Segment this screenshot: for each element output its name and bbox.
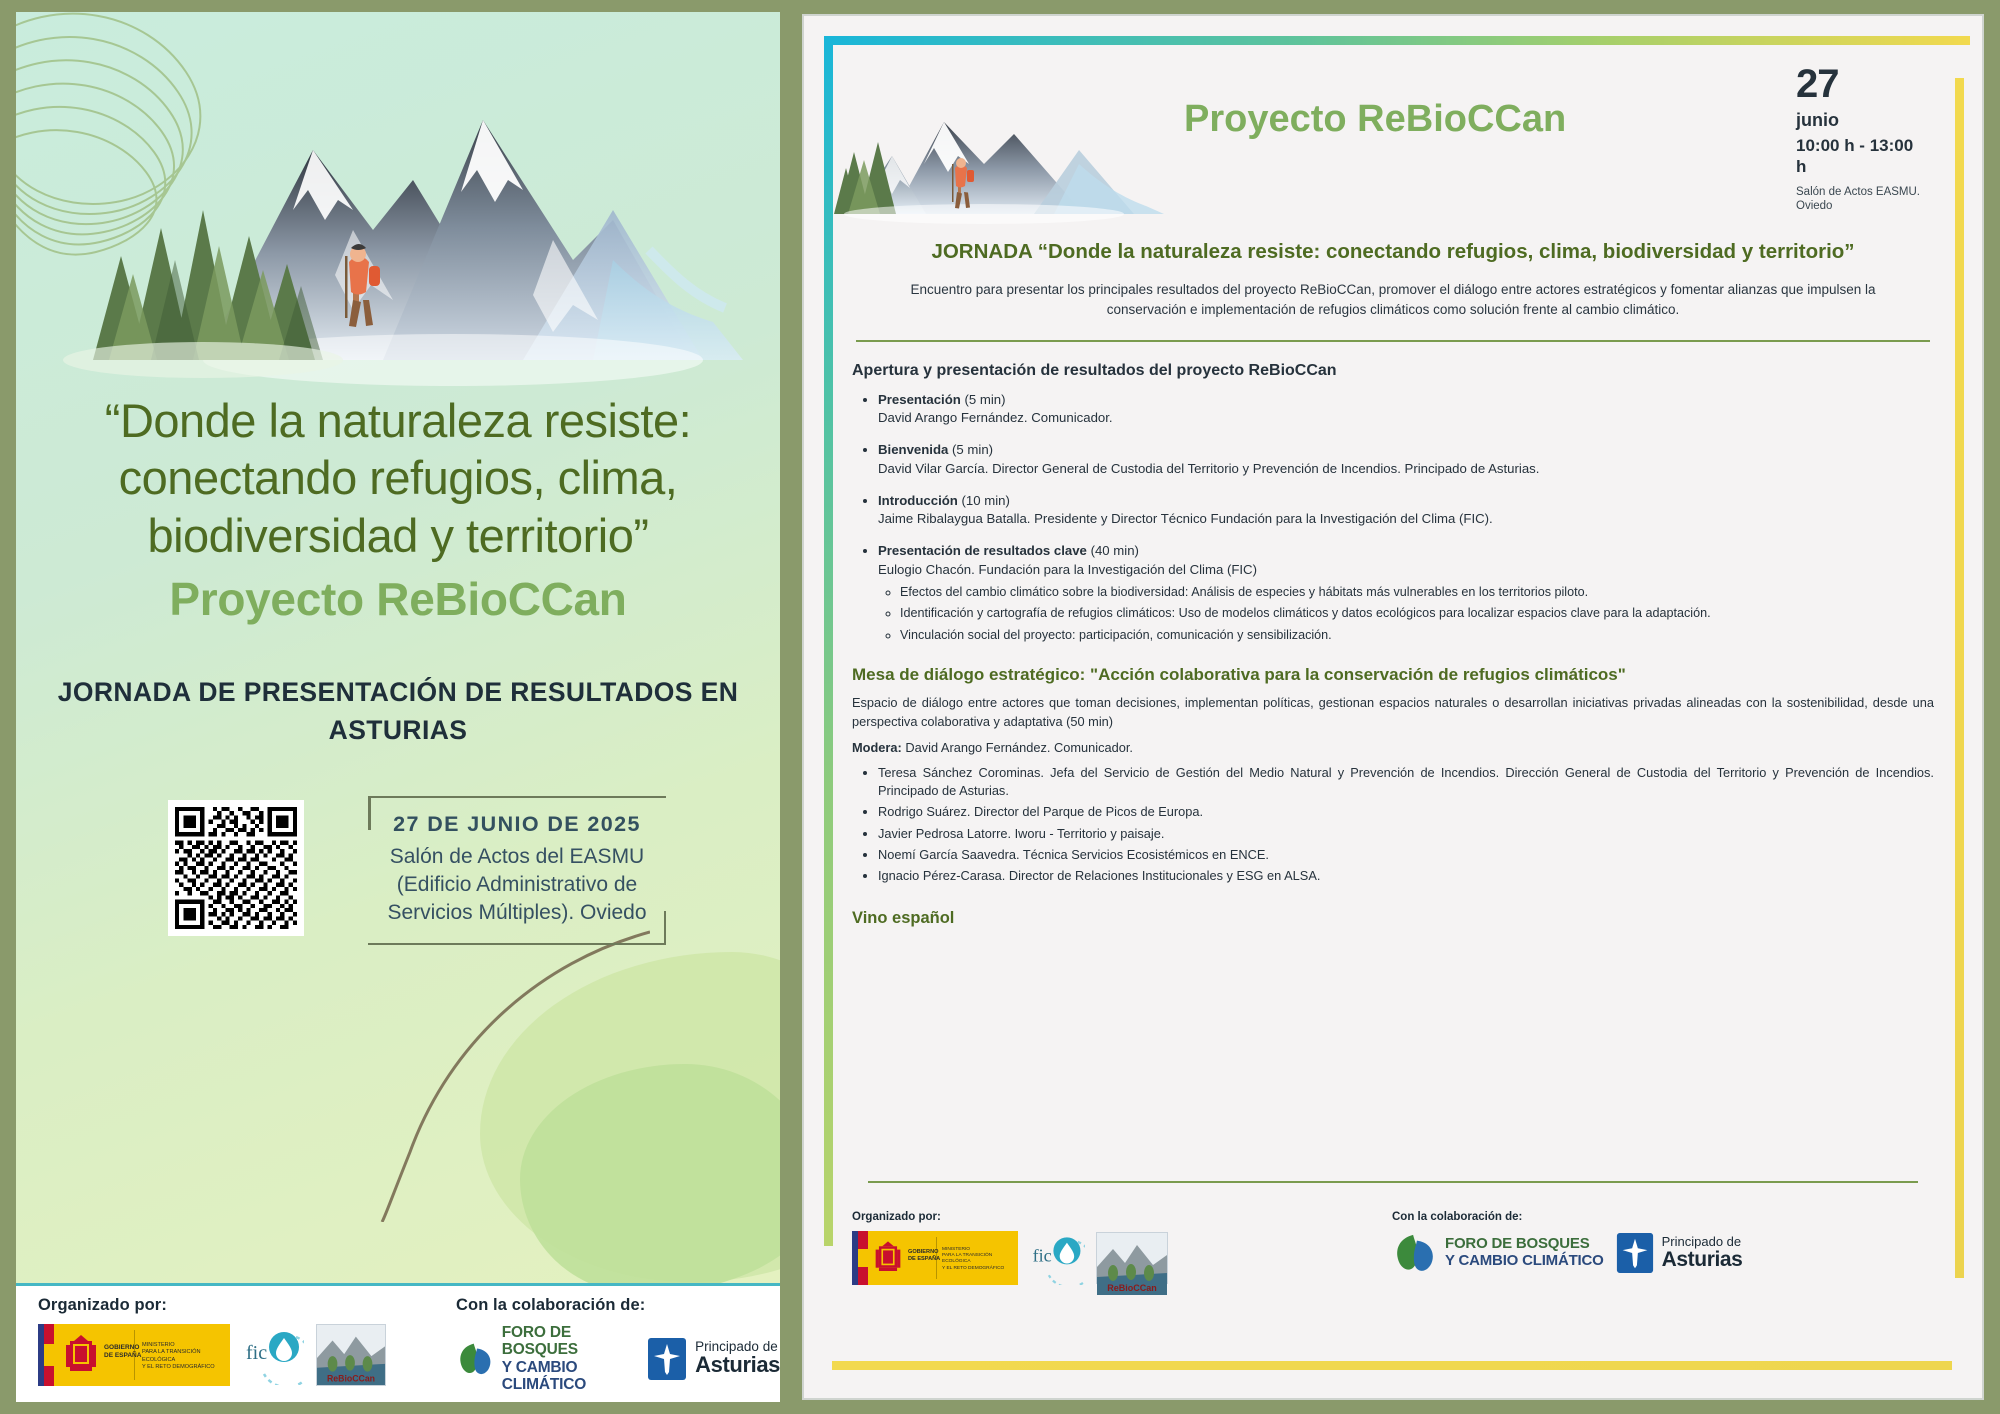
doc-ministerio-label: MINISTERIOPARA LA TRANSICIÓN ECOLÓGICAY … bbox=[942, 1247, 1018, 1272]
qr-code-graphic bbox=[175, 807, 297, 929]
doc-gobierno-label: GOBIERNODE ESPAÑA bbox=[908, 1249, 940, 1263]
doc-asturias-line1: Principado de bbox=[1662, 1235, 1743, 1249]
ministerio-label: MINISTERIOPARA LA TRANSICIÓN ECOLÓGICAY … bbox=[142, 1342, 230, 1371]
doc-organizers-block: Organizado por: bbox=[852, 1211, 1168, 1285]
svg-text:ReBioCCan: ReBioCCan bbox=[1107, 1283, 1157, 1293]
agenda-duration: (40 min) bbox=[1091, 543, 1139, 558]
principado-asturias-logo: Principado de Asturias bbox=[646, 1336, 780, 1382]
doc-date-day: 27 bbox=[1796, 64, 1926, 104]
asturias-line2: Asturias bbox=[695, 1354, 780, 1377]
moderator-name: David Arango Fernández. Comunicador. bbox=[905, 740, 1133, 755]
agenda-speaker: David Arango Fernández. Comunicador. bbox=[878, 409, 1934, 428]
panelist-item: Ignacio Pérez-Carasa. Director de Relaci… bbox=[878, 867, 1934, 885]
doc-collaboration-label: Con la colaboración de: bbox=[1392, 1211, 1742, 1223]
doc-section2-heading: Mesa de diálogo estratégico: "Acción col… bbox=[852, 664, 1934, 687]
spain-crest-icon bbox=[64, 1331, 98, 1377]
organizers-block: Organizado por: bbox=[38, 1296, 386, 1386]
doc-date-block: 27 junio 10:00 h - 13:00 h Salón de Acto… bbox=[1796, 64, 1926, 214]
panelist-item: Javier Pedrosa Latorre. Iworu - Territor… bbox=[878, 825, 1934, 843]
foro-bosques-logo: FORO DE BOSQUES Y CAMBIO CLIMÁTICO bbox=[456, 1324, 634, 1393]
agenda-item: Presentación de resultados clave (40 min… bbox=[878, 542, 1934, 644]
doc-fic-logo-icon: fic bbox=[1029, 1231, 1085, 1285]
agenda-label: Bienvenida bbox=[878, 442, 948, 457]
doc-asturias-line2: Asturias bbox=[1662, 1249, 1743, 1271]
section-divider-2 bbox=[868, 1181, 1918, 1183]
doc-project-title: Proyecto ReBioCCan bbox=[1184, 98, 1614, 141]
agenda-duration: (10 min) bbox=[962, 493, 1010, 508]
doc-principado-asturias-logo: Principado de Asturias bbox=[1615, 1231, 1743, 1275]
event-date: 27 DE JUNIO DE 2025 bbox=[378, 810, 656, 839]
agenda-sub-item: Identificación y cartografía de refugios… bbox=[900, 605, 1934, 623]
doc-date-time: 10:00 h - 13:00 h bbox=[1796, 135, 1926, 178]
poster-title: “Donde la naturaleza resiste: conectando… bbox=[16, 392, 780, 564]
doc-foro-bosques-logo: FORO DE BOSQUES Y CAMBIO CLIMÁTICO bbox=[1392, 1231, 1604, 1275]
collaborators-block: Con la colaboración de: FORO DE BOSQUES … bbox=[456, 1296, 780, 1393]
doc-section1-heading: Apertura y presentación de resultados de… bbox=[852, 362, 1934, 380]
foro-leaf-icon bbox=[456, 1336, 495, 1382]
panelists-list: Teresa Sánchez Corominas. Jefa del Servi… bbox=[878, 764, 1934, 885]
doc-body: JORNADA “Donde la naturaleza resiste: co… bbox=[852, 238, 1934, 928]
doc-rebioccan-logo-icon: ReBioCCan bbox=[1097, 1233, 1167, 1295]
agenda-sub-list: Efectos del cambio climático sobre la bi… bbox=[900, 584, 1934, 645]
right-gradient-bar bbox=[1955, 78, 1964, 1278]
asturias-cross-icon bbox=[646, 1336, 688, 1382]
panelist-item: Teresa Sánchez Corominas. Jefa del Servi… bbox=[878, 764, 1934, 800]
foro-line1: FORO DE BOSQUES bbox=[502, 1324, 578, 1358]
doc-jornada-description: Encuentro para presentar los principales… bbox=[852, 280, 1934, 321]
doc-footer: Organizado por: bbox=[852, 1211, 1934, 1341]
doc-date-place: Salón de Actos EASMU. Oviedo bbox=[1796, 185, 1926, 215]
doc-foro-line1: FORO DE BOSQUES bbox=[1445, 1235, 1590, 1252]
qr-code[interactable] bbox=[168, 800, 304, 936]
agenda-item: Introducción (10 min) Jaime Ribalaygua B… bbox=[878, 492, 1934, 529]
event-venue-line2: (Edificio Administrativo de bbox=[378, 871, 656, 899]
doc-spain-crest-icon bbox=[874, 1237, 902, 1277]
doc-asturias-cross-icon bbox=[1615, 1231, 1655, 1275]
poster-subtitle: JORNADA DE PRESENTACIÓN DE RESULTADOS EN… bbox=[16, 674, 780, 749]
mountain-illustration bbox=[53, 60, 743, 390]
panelist-item: Noemí García Saavedra. Técnica Servicios… bbox=[878, 846, 1934, 864]
svg-text:fic: fic bbox=[246, 1342, 267, 1364]
doc-date-month: junio bbox=[1796, 110, 1926, 131]
event-venue-line3: Servicios Múltiples). Oviedo bbox=[378, 899, 656, 927]
agenda-speaker: Eulogio Chacón. Fundación para la Invest… bbox=[878, 561, 1934, 580]
agenda-list: Presentación (5 min) David Arango Fernán… bbox=[878, 391, 1934, 645]
doc-fic-logo: fic bbox=[1029, 1231, 1085, 1285]
agenda-duration: (5 min) bbox=[952, 442, 993, 457]
decorative-swoosh bbox=[290, 922, 650, 1222]
doc-jornada-title: JORNADA “Donde la naturaleza resiste: co… bbox=[852, 238, 1934, 267]
organized-by-label: Organizado por: bbox=[38, 1296, 386, 1315]
poster-left: “Donde la naturaleza resiste: conectando… bbox=[16, 12, 780, 1402]
gobierno-label: GOBIERNODE ESPAÑA bbox=[104, 1344, 141, 1360]
agenda-label: Presentación de resultados clave bbox=[878, 543, 1087, 558]
svg-text:ReBioCCan: ReBioCCan bbox=[327, 1373, 375, 1383]
agenda-label: Introducción bbox=[878, 493, 958, 508]
moderator-line: Modera: David Arango Fernández. Comunica… bbox=[852, 739, 1934, 758]
doc-organized-by-label: Organizado por: bbox=[852, 1211, 1168, 1223]
poster-footer: Organizado por: bbox=[16, 1286, 780, 1402]
svg-text:fic: fic bbox=[1033, 1246, 1052, 1266]
agenda-label: Presentación bbox=[878, 392, 961, 407]
top-gradient-bar bbox=[824, 36, 1970, 45]
agenda-sub-item: Efectos del cambio climático sobre la bi… bbox=[900, 584, 1934, 602]
agenda-sub-item: Vinculación social del proyecto: partici… bbox=[900, 627, 1934, 645]
poster-project-name: Proyecto ReBioCCan bbox=[16, 572, 780, 626]
agenda-item: Bienvenida (5 min) David Vilar García. D… bbox=[878, 441, 1934, 478]
doc-foro-leaf-icon bbox=[1392, 1231, 1438, 1275]
doc-closing-item: Vino español bbox=[852, 909, 1934, 928]
doc-collaborators-block: Con la colaboración de: FORO DE BOSQUES … bbox=[1392, 1211, 1742, 1275]
doc-section2-description: Espacio de diálogo entre actores que tom… bbox=[852, 694, 1934, 731]
event-venue-line1: Salón de Actos del EASMU bbox=[378, 843, 656, 871]
agenda-speaker: David Vilar García. Director General de … bbox=[878, 460, 1934, 479]
rebioccan-logo-icon: ReBioCCan bbox=[317, 1325, 385, 1385]
left-gradient-bar bbox=[824, 36, 833, 1246]
doc-foro-line2: Y CAMBIO CLIMÁTICO bbox=[1445, 1252, 1604, 1269]
fic-logo-icon: fic bbox=[242, 1325, 304, 1385]
agenda-duration: (5 min) bbox=[965, 392, 1006, 407]
collaboration-label: Con la colaboración de: bbox=[456, 1296, 780, 1315]
moderator-label: Modera: bbox=[852, 740, 902, 755]
rebioccan-logo: ReBioCCan bbox=[316, 1324, 386, 1386]
fic-logo: fic bbox=[242, 1325, 304, 1385]
doc-gobierno-espana-logo: GOBIERNODE ESPAÑA MINISTERIOPARA LA TRAN… bbox=[852, 1231, 1018, 1285]
doc-rebioccan-logo: ReBioCCan bbox=[1096, 1232, 1168, 1284]
section-divider-1 bbox=[856, 340, 1930, 342]
panelist-item: Rodrigo Suárez. Director del Parque de P… bbox=[878, 803, 1934, 821]
foro-line2: Y CAMBIO CLIMÁTICO bbox=[502, 1359, 586, 1393]
poster-info-row: 27 DE JUNIO DE 2025 Salón de Actos del E… bbox=[16, 800, 780, 950]
bottom-gradient-bar bbox=[832, 1361, 1952, 1370]
agenda-speaker: Jaime Ribalaygua Batalla. Presidente y D… bbox=[878, 510, 1934, 529]
programme-document: Proyecto ReBioCCan 27 junio 10:00 h - 13… bbox=[802, 14, 1984, 1400]
gobierno-espana-logo: GOBIERNODE ESPAÑA MINISTERIOPARA LA TRAN… bbox=[38, 1324, 230, 1386]
screenshot-root: “Donde la naturaleza resiste: conectando… bbox=[0, 0, 2000, 1414]
event-date-box: 27 DE JUNIO DE 2025 Salón de Actos del E… bbox=[368, 796, 666, 945]
doc-mountain-illustration bbox=[834, 64, 1164, 224]
agenda-item: Presentación (5 min) David Arango Fernán… bbox=[878, 391, 1934, 428]
